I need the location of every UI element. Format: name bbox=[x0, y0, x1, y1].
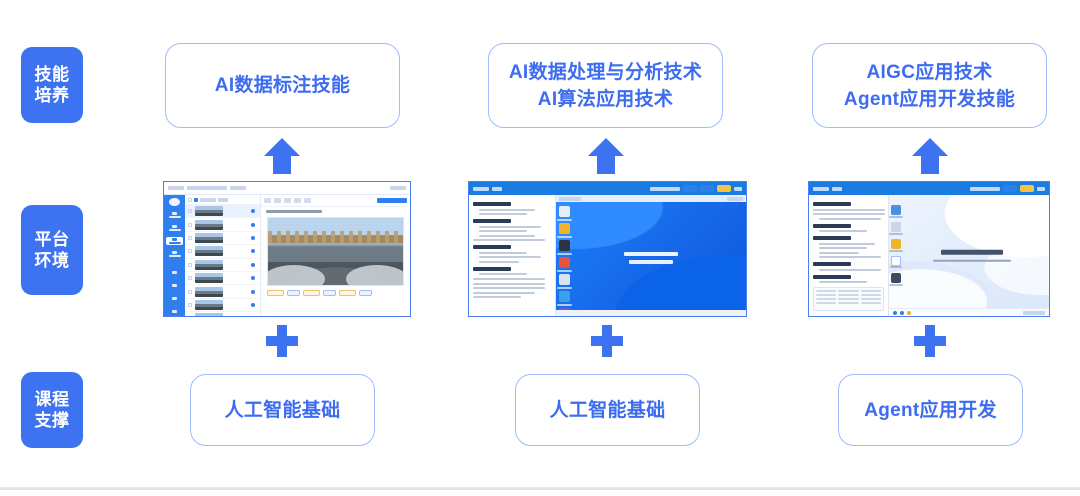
course-card-2-text: 人工智能基础 bbox=[550, 397, 666, 424]
shot2-titlebar bbox=[469, 182, 746, 195]
skill-card-1: AI数据标注技能 bbox=[165, 43, 400, 128]
thumbnail bbox=[195, 287, 223, 297]
session-info-chip bbox=[970, 187, 1000, 191]
row-checkbox[interactable] bbox=[188, 236, 192, 240]
app-logo-icon bbox=[169, 198, 180, 206]
sidebar-item[interactable] bbox=[166, 308, 183, 316]
thumbnail bbox=[195, 220, 223, 230]
shot3-titlebar bbox=[809, 182, 1049, 195]
status-dot bbox=[251, 209, 255, 213]
tab-chip[interactable] bbox=[473, 187, 489, 191]
sidebar-item[interactable] bbox=[166, 250, 183, 258]
shot1-canvas-panel bbox=[261, 195, 410, 316]
diagram-root: 技能 培养 平台 环境 课程 支撑 AI数据标注技能 AI数据处理与分析技术 A… bbox=[0, 0, 1080, 496]
toolbar-chip bbox=[727, 197, 743, 201]
row-checkbox[interactable] bbox=[188, 276, 192, 280]
shot1-titlebar bbox=[164, 182, 410, 195]
platform-screenshot-annotation bbox=[163, 181, 411, 317]
doc-line bbox=[819, 243, 875, 245]
doc-line bbox=[819, 230, 867, 232]
doc-heading bbox=[473, 245, 511, 249]
doc-line bbox=[473, 287, 545, 289]
doc-line bbox=[473, 296, 521, 298]
thumbnail bbox=[195, 273, 223, 283]
desktop-watermark bbox=[624, 252, 678, 264]
image-title bbox=[261, 207, 410, 216]
doc-heading bbox=[473, 267, 511, 271]
tool-icon[interactable] bbox=[294, 198, 301, 203]
doc-line bbox=[479, 273, 527, 275]
row-label-platform: 平台 环境 bbox=[21, 205, 83, 295]
sidebar-item[interactable] bbox=[166, 269, 183, 277]
watermark-subtitle bbox=[933, 259, 1011, 262]
course-card-3: Agent应用开发 bbox=[838, 374, 1023, 446]
breadcrumb-chip bbox=[187, 186, 227, 190]
row-checkbox[interactable] bbox=[188, 209, 192, 213]
status-dot bbox=[251, 290, 255, 294]
arrow-up-icon bbox=[262, 136, 302, 176]
table-col bbox=[816, 290, 836, 308]
list-item[interactable] bbox=[185, 245, 260, 258]
row-label-course-line1: 课程 bbox=[35, 389, 70, 410]
label-tag[interactable] bbox=[359, 290, 372, 296]
doc-line bbox=[479, 230, 527, 232]
action-button-warning[interactable] bbox=[717, 185, 731, 192]
road-right bbox=[346, 265, 404, 286]
status-dot bbox=[251, 276, 255, 280]
row-label-platform-line2: 环境 bbox=[35, 250, 70, 271]
user-chip bbox=[390, 186, 406, 190]
row-checkbox[interactable] bbox=[188, 223, 192, 227]
thumbnail bbox=[195, 233, 223, 243]
list-item[interactable] bbox=[185, 285, 260, 298]
doc-line bbox=[479, 226, 541, 228]
tool-icon[interactable] bbox=[304, 198, 311, 203]
shot1-sidebar bbox=[164, 195, 185, 316]
doc-heading bbox=[813, 236, 851, 240]
row-checkbox[interactable] bbox=[188, 290, 192, 294]
doc-line bbox=[473, 278, 545, 280]
status-dot bbox=[251, 236, 255, 240]
status-dot bbox=[900, 311, 904, 315]
doc-line bbox=[479, 213, 527, 215]
thumbnail bbox=[195, 246, 223, 256]
doc-paragraph bbox=[473, 278, 551, 298]
tab-chip[interactable] bbox=[492, 187, 502, 191]
label-tag-list[interactable] bbox=[261, 288, 410, 297]
row-checkbox[interactable] bbox=[188, 263, 192, 267]
course-card-2: 人工智能基础 bbox=[515, 374, 700, 446]
label-tag[interactable] bbox=[339, 290, 356, 296]
doc-line bbox=[479, 209, 535, 211]
sidebar-item-active[interactable] bbox=[166, 237, 183, 245]
thumbnail bbox=[195, 313, 223, 317]
arrow-up-icon bbox=[586, 136, 626, 176]
shot3-body bbox=[809, 195, 1049, 316]
breadcrumb-chip bbox=[168, 186, 184, 190]
thumbnail bbox=[195, 206, 223, 216]
status-dot bbox=[893, 311, 897, 315]
annotation-toolbar[interactable] bbox=[261, 195, 410, 207]
status-dot bbox=[251, 249, 255, 253]
doc-line bbox=[473, 239, 545, 241]
list-item[interactable] bbox=[185, 205, 260, 218]
shot2-manual-panel[interactable] bbox=[469, 195, 556, 316]
doc-line bbox=[819, 247, 867, 249]
thumbnail bbox=[195, 300, 223, 310]
shot2-body bbox=[469, 195, 746, 316]
doc-heading bbox=[473, 202, 511, 206]
shot2-virtual-desktop[interactable] bbox=[556, 195, 746, 316]
list-item[interactable] bbox=[185, 259, 260, 272]
status-dot bbox=[251, 303, 255, 307]
bottom-divider bbox=[0, 487, 1080, 490]
arrow-up-icon bbox=[910, 136, 950, 176]
plus-icon bbox=[589, 323, 625, 359]
skill-card-1-text: AI数据标注技能 bbox=[215, 72, 350, 99]
doc-line bbox=[819, 281, 867, 283]
doc-heading bbox=[813, 224, 851, 228]
doc-line bbox=[479, 235, 535, 237]
doc-line bbox=[479, 256, 541, 258]
shot1-body bbox=[164, 195, 410, 316]
course-card-1: 人工智能基础 bbox=[190, 374, 375, 446]
row-label-skill: 技能 培养 bbox=[21, 47, 83, 123]
status-chip bbox=[1023, 311, 1045, 315]
watermark-line-1 bbox=[624, 252, 678, 256]
platform-screenshot-agent-dev bbox=[808, 181, 1050, 317]
skill-card-3-text: AIGC应用技术 Agent应用开发技能 bbox=[844, 59, 1015, 113]
close-icon[interactable] bbox=[1037, 187, 1045, 191]
sidebar-item[interactable] bbox=[166, 282, 183, 290]
road-left bbox=[267, 265, 325, 286]
row-label-platform-line1: 平台 bbox=[35, 229, 70, 250]
skill-card-3: AIGC应用技术 Agent应用开发技能 bbox=[812, 43, 1047, 128]
sidebar-item[interactable] bbox=[166, 295, 183, 303]
doc-heading bbox=[813, 262, 851, 266]
desktop-icon[interactable] bbox=[559, 240, 570, 251]
sidebar-item[interactable] bbox=[166, 224, 183, 232]
desktop-toolbar[interactable] bbox=[556, 195, 746, 202]
filter-chip[interactable] bbox=[194, 198, 198, 202]
desktop-icon[interactable] bbox=[559, 223, 570, 234]
thumbnail bbox=[195, 260, 223, 270]
platform-screenshot-ai-lab bbox=[468, 181, 747, 317]
submit-button[interactable] bbox=[377, 198, 407, 203]
list-item[interactable] bbox=[185, 272, 260, 285]
row-label-skill-line1: 技能 bbox=[35, 64, 70, 85]
status-dot bbox=[251, 263, 255, 267]
doc-line bbox=[819, 269, 881, 271]
tab-chip[interactable] bbox=[832, 187, 842, 191]
doc-embedded-table bbox=[813, 287, 884, 311]
tab-chip[interactable] bbox=[813, 187, 829, 191]
table-col bbox=[838, 290, 858, 308]
action-button[interactable] bbox=[683, 185, 697, 192]
doc-line bbox=[813, 209, 885, 211]
plus-icon bbox=[912, 323, 948, 359]
doc-line bbox=[473, 283, 545, 285]
doc-line bbox=[479, 252, 527, 254]
row-checkbox[interactable] bbox=[188, 303, 192, 307]
row-label-course-line2: 支撑 bbox=[35, 410, 70, 431]
tool-icon[interactable] bbox=[274, 198, 281, 203]
desktop-icon-column[interactable] bbox=[559, 206, 570, 316]
row-label-skill-line2: 培养 bbox=[35, 85, 70, 106]
annotation-canvas[interactable] bbox=[267, 217, 404, 286]
desktop-icon[interactable] bbox=[559, 274, 570, 285]
row-checkbox[interactable] bbox=[188, 249, 192, 253]
city-skyline bbox=[268, 231, 403, 243]
doc-heading bbox=[473, 219, 511, 223]
sidebar-item[interactable] bbox=[166, 211, 183, 219]
doc-heading bbox=[813, 275, 851, 279]
action-button-warning[interactable] bbox=[1020, 185, 1034, 192]
plus-icon bbox=[264, 323, 300, 359]
column-header bbox=[218, 198, 228, 202]
list-item[interactable] bbox=[185, 299, 260, 312]
column-header bbox=[200, 198, 216, 202]
tool-icon[interactable] bbox=[264, 198, 271, 203]
doc-line bbox=[819, 252, 859, 254]
shot3-agent-workspace[interactable] bbox=[889, 195, 1049, 316]
workspace-icon-rail[interactable] bbox=[891, 205, 901, 283]
tool-icon[interactable] bbox=[284, 198, 291, 203]
label-tag[interactable] bbox=[303, 290, 320, 296]
doc-line bbox=[479, 261, 519, 263]
row-checkbox[interactable] bbox=[188, 316, 192, 317]
course-card-3-text: Agent应用开发 bbox=[864, 397, 997, 424]
title-text bbox=[266, 210, 322, 213]
list-header bbox=[185, 195, 260, 205]
status-dot bbox=[251, 316, 255, 317]
desktop-icon[interactable] bbox=[559, 206, 570, 217]
doc-line bbox=[819, 218, 881, 220]
workspace-icon[interactable] bbox=[891, 239, 901, 249]
skill-card-2: AI数据处理与分析技术 AI算法应用技术 bbox=[488, 43, 723, 128]
action-button[interactable] bbox=[1003, 185, 1017, 192]
session-info-chip bbox=[650, 187, 680, 191]
horizon-line bbox=[268, 245, 403, 247]
doc-heading bbox=[813, 202, 851, 206]
doc-line bbox=[819, 256, 881, 258]
list-item[interactable] bbox=[185, 218, 260, 231]
doc-line bbox=[813, 213, 885, 215]
row-label-course: 课程 支撑 bbox=[21, 372, 83, 448]
select-all-checkbox[interactable] bbox=[188, 198, 192, 202]
desktop-taskbar[interactable] bbox=[556, 310, 746, 316]
desktop-icon[interactable] bbox=[559, 257, 570, 268]
breadcrumb-chip bbox=[230, 186, 246, 190]
label-tag[interactable] bbox=[287, 290, 300, 296]
desktop-icon[interactable] bbox=[559, 291, 570, 302]
toolbar-chip bbox=[559, 197, 581, 201]
label-tag[interactable] bbox=[267, 290, 284, 296]
shot3-manual-panel[interactable] bbox=[809, 195, 889, 316]
workspace-icon[interactable] bbox=[891, 222, 901, 232]
status-dot bbox=[907, 311, 911, 315]
shot1-image-list[interactable] bbox=[185, 195, 261, 316]
list-item[interactable] bbox=[185, 312, 260, 317]
list-item[interactable] bbox=[185, 232, 260, 245]
watermark-title bbox=[941, 249, 1003, 254]
workspace-watermark bbox=[892, 249, 1049, 262]
workspace-icon[interactable] bbox=[891, 205, 901, 215]
action-button[interactable] bbox=[700, 185, 714, 192]
status-dot bbox=[251, 223, 255, 227]
table-col bbox=[861, 290, 881, 308]
workspace-statusbar[interactable] bbox=[889, 308, 1049, 316]
label-tag[interactable] bbox=[323, 290, 336, 296]
skill-card-2-text: AI数据处理与分析技术 AI算法应用技术 bbox=[509, 59, 702, 113]
close-icon[interactable] bbox=[734, 187, 742, 191]
doc-line bbox=[473, 292, 535, 294]
watermark-line-2 bbox=[629, 260, 673, 264]
course-card-1-text: 人工智能基础 bbox=[225, 397, 341, 424]
workspace-icon[interactable] bbox=[891, 273, 901, 283]
